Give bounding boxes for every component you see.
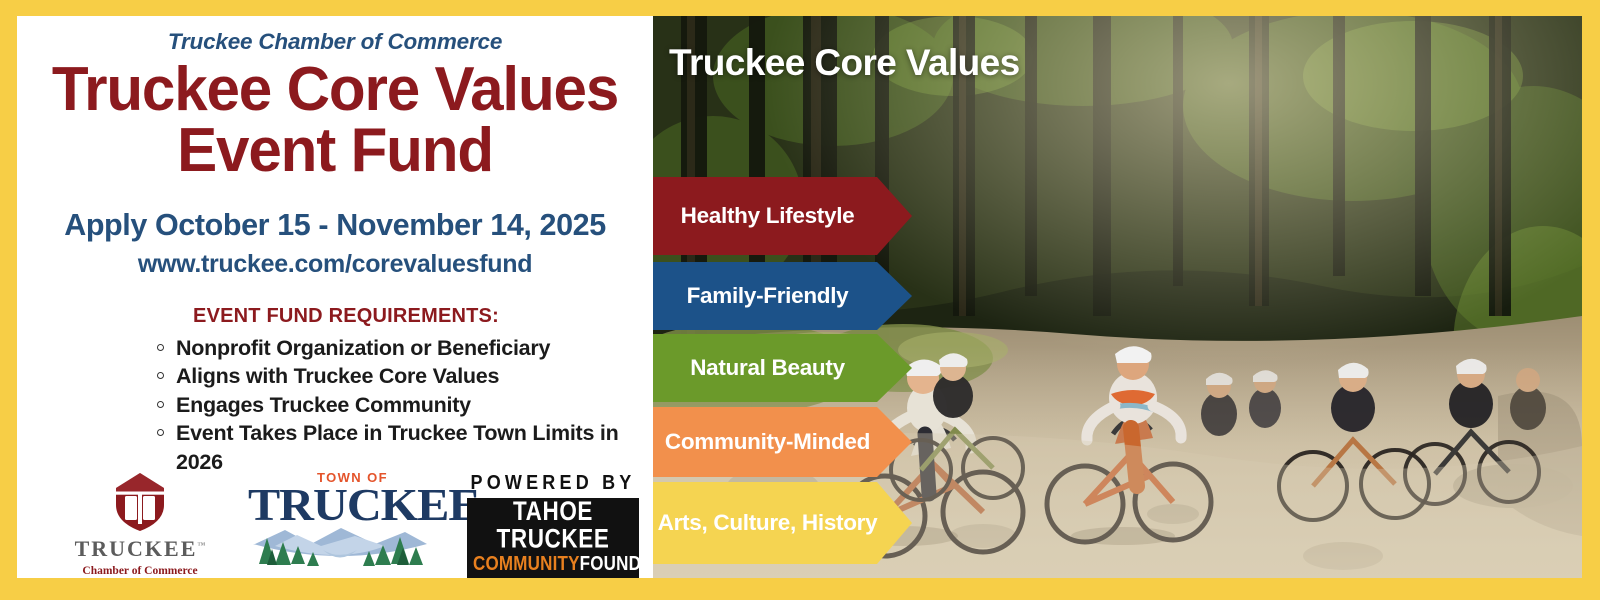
list-item: Engages Truckee Community xyxy=(157,391,653,420)
apply-window-text: Apply October 15 - November 14, 2025 xyxy=(17,208,653,243)
core-value-label: Community-Minded xyxy=(665,428,870,456)
core-value-arrow-natural-beauty: Natural Beauty xyxy=(653,334,912,402)
mountain-trees-icon xyxy=(245,524,435,566)
core-values-arrow-list: Healthy Lifestyle Family-Friendly Natura… xyxy=(653,16,1582,578)
poster-canvas: Truckee Chamber of Commerce Truckee Core… xyxy=(0,0,1600,600)
core-value-label: Arts, Culture, History xyxy=(658,509,878,537)
bullet-circle-icon xyxy=(157,344,164,351)
town-of-truckee-logo: TOWN OF TRUCKEE xyxy=(245,464,435,564)
bullet-circle-icon xyxy=(157,372,164,379)
left-info-panel: Truckee Chamber of Commerce Truckee Core… xyxy=(17,16,653,578)
core-value-arrow-healthy-lifestyle: Healthy Lifestyle xyxy=(653,177,912,255)
requirements-heading: EVENT FUND REQUIREMENTS: xyxy=(17,305,653,328)
truckee-chamber-logo: TRUCKEE™ Chamber of Commerce xyxy=(65,472,215,577)
core-value-arrow-family-friendly: Family-Friendly xyxy=(653,262,912,330)
application-url-link[interactable]: www.truckee.com/corevaluesfund xyxy=(17,250,653,279)
trademark-symbol: ™ xyxy=(197,541,205,550)
headline-line-2: Event Fund xyxy=(27,120,644,181)
requirements-list: Nonprofit Organization or Beneficiary Al… xyxy=(157,334,653,477)
sponsor-logo-row: TRUCKEE™ Chamber of Commerce TOWN OF TRU… xyxy=(17,462,653,572)
tahoe-truckee-community-foundation-logo: POWERED BY TAHOE TRUCKEE COMMUNITYFOUNDA… xyxy=(467,472,639,578)
core-value-label: Natural Beauty xyxy=(690,354,845,382)
bullet-circle-icon xyxy=(157,401,164,408)
list-item-label: Aligns with Truckee Core Values xyxy=(176,364,499,388)
ttcf-wordmark-box: TAHOE TRUCKEE COMMUNITYFOUNDATION xyxy=(467,498,639,578)
list-item-label: Engages Truckee Community xyxy=(176,393,471,417)
chamber-tagline: Chamber of Commerce xyxy=(65,565,215,577)
core-value-arrow-arts-culture-history: Arts, Culture, History xyxy=(653,482,912,564)
core-value-label: Family-Friendly xyxy=(687,282,849,310)
ttcf-foundation-word: FOUNDATION xyxy=(580,552,653,575)
chamber-wordmark: TRUCKEE™ xyxy=(65,536,215,562)
list-item-label: Nonprofit Organization or Beneficiary xyxy=(176,336,550,360)
bullet-circle-icon xyxy=(157,429,164,436)
core-value-arrow-community-minded: Community-Minded xyxy=(653,407,912,477)
list-item: Nonprofit Organization or Beneficiary xyxy=(157,334,653,363)
photo-panel-title: Truckee Core Values xyxy=(669,42,1020,84)
shield-icon xyxy=(114,472,166,532)
ttcf-community-word: COMMUNITY xyxy=(473,552,580,575)
list-item: Aligns with Truckee Core Values xyxy=(157,362,653,391)
powered-by-label: POWERED BY xyxy=(467,470,639,494)
organization-kicker: Truckee Chamber of Commerce xyxy=(17,29,653,55)
headline-line-1: Truckee Core Values xyxy=(27,59,644,120)
ttcf-line-1: TAHOE TRUCKEE xyxy=(473,499,633,553)
core-value-label: Healthy Lifestyle xyxy=(681,202,855,230)
page-title: Truckee Core Values Event Fund xyxy=(27,59,644,182)
photo-panel: Truckee Core Values Healthy Lifestyle Fa… xyxy=(653,16,1582,578)
ttcf-line-2: COMMUNITYFOUNDATION xyxy=(473,553,633,573)
